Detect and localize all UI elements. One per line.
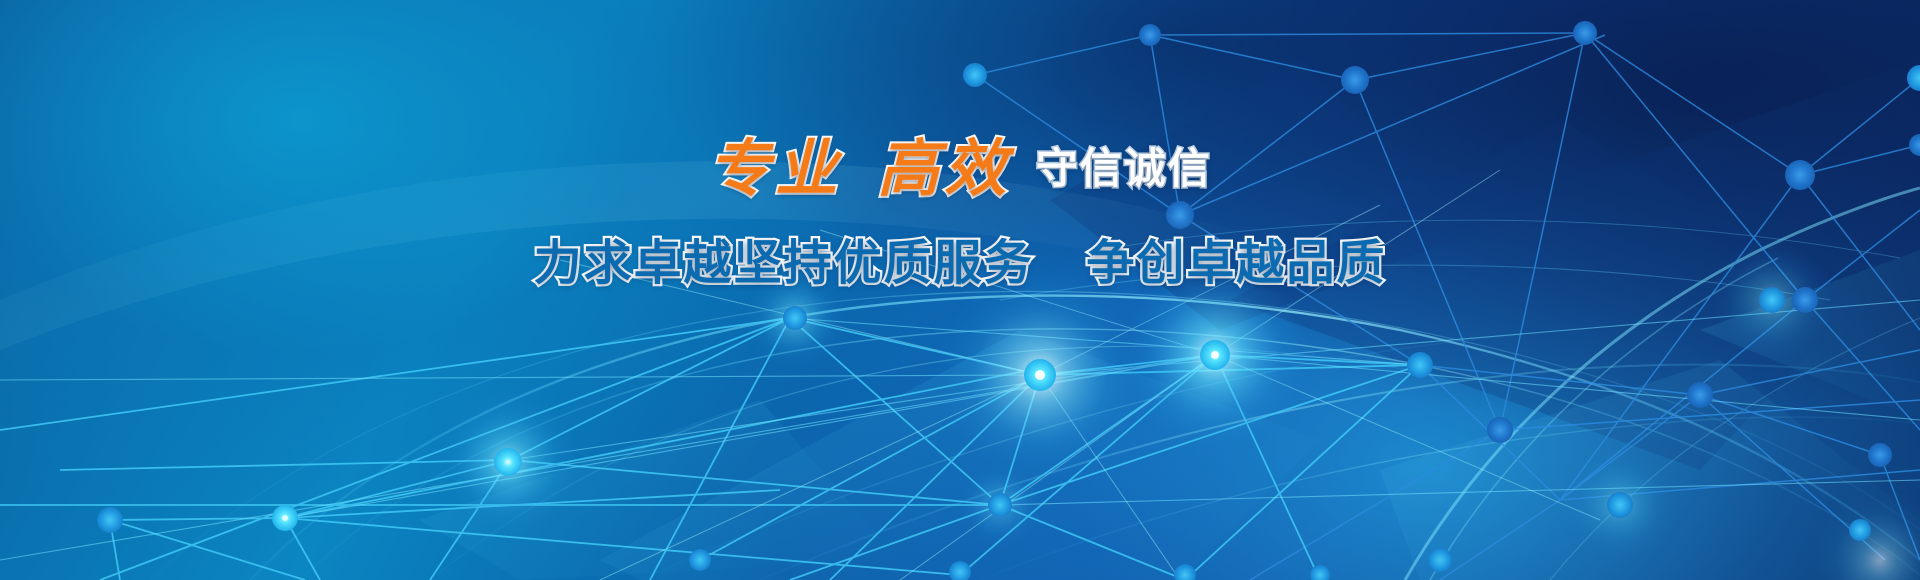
hero-banner: 专业 高效 守信诚信 力求卓越坚持优质服务 争创卓越品质 xyxy=(0,0,1920,580)
background-light-sweep xyxy=(0,0,1920,580)
